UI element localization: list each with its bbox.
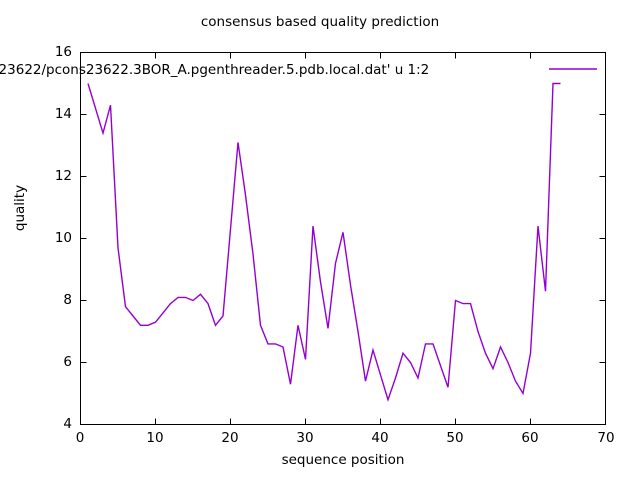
plot-svg [0, 0, 640, 480]
chart-container: consensus based quality prediction quali… [0, 0, 640, 480]
plot-frame [81, 53, 606, 425]
data-series-line [88, 84, 561, 400]
tick-marks [81, 53, 606, 425]
